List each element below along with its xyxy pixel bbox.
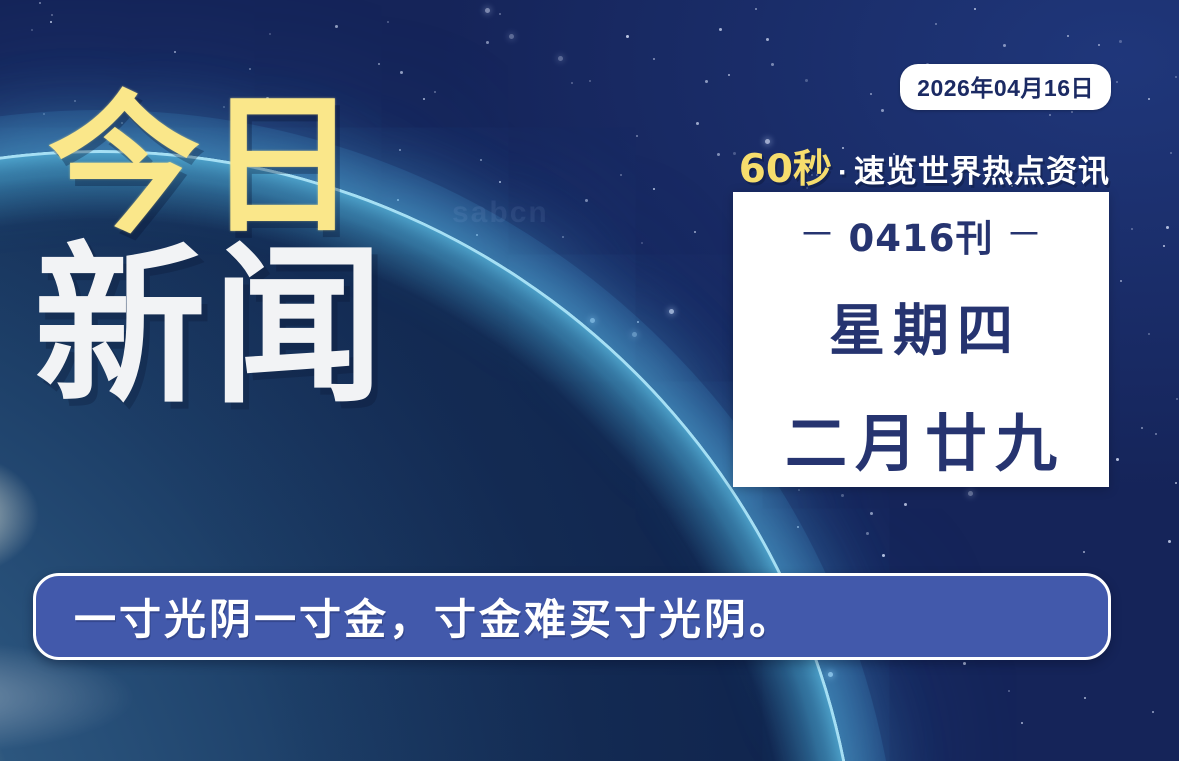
lunar-date-label: 二月廿九 <box>777 393 1065 483</box>
news-poster: sabcn 今日 新闻 2026年04月16日 60秒·速览世界热点资讯 －04… <box>0 0 1179 761</box>
poster-title: 今日 新闻 <box>48 96 390 406</box>
weekday-label: 星期四 <box>821 286 1021 367</box>
title-line-news: 新闻 <box>34 248 390 406</box>
issue-dash-right: － <box>993 213 1055 256</box>
issue-number: 0416刊 <box>849 217 994 260</box>
tagline: 60秒·速览世界热点资讯 <box>739 138 1110 194</box>
title-line-today: 今日 <box>48 96 390 236</box>
issue-dash-left: － <box>787 213 849 256</box>
quote-banner: 一寸光阴一寸金，寸金难买寸光阴。 <box>33 573 1111 660</box>
quote-text: 一寸光阴一寸金，寸金难买寸光阴。 <box>36 586 794 647</box>
issue-card: －0416刊－ 星期四 二月廿九 <box>733 192 1109 487</box>
tagline-seconds: 60秒 <box>739 147 832 192</box>
tagline-text: 速览世界热点资讯 <box>854 154 1110 189</box>
watermark-text: sabcn <box>452 196 549 230</box>
tagline-separator-dot: · <box>832 156 854 189</box>
issue-line: －0416刊－ <box>787 208 1056 262</box>
date-badge: 2026年04月16日 <box>900 64 1111 110</box>
